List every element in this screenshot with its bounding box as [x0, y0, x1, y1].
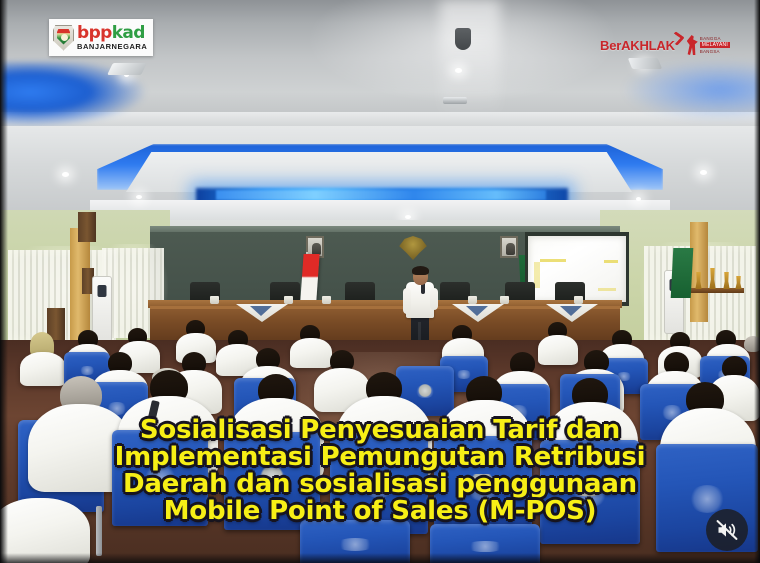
audience-chair: [112, 430, 208, 526]
ceiling-spotlight: [636, 197, 641, 201]
audience-chair: [330, 434, 428, 534]
frame-edge-bottom: [0, 553, 760, 563]
banjarnegara-crest-icon: [53, 25, 74, 51]
tagline-line-2: MELAYANI: [700, 42, 730, 48]
ceiling-blue-glow-right: [600, 62, 760, 122]
running-figure-icon: [687, 35, 698, 55]
frame-edge-left: [0, 0, 8, 563]
chair-emblem: [468, 474, 496, 490]
audience-shirt: [20, 352, 66, 386]
projected-slide-line: [604, 260, 618, 263]
decorative-flag-right: [671, 248, 694, 298]
vice-president-portrait: [500, 236, 518, 258]
blue-led-cove-highlight: [216, 190, 546, 200]
bppkad-wordmark-part2: kad: [112, 23, 145, 43]
ceiling-spotlight: [700, 170, 707, 175]
presenter-arm-left: [403, 288, 411, 314]
drinking-glass: [468, 296, 477, 304]
bangga-melayani-bangsa-text: BANGGA MELAYANI BANGSA: [700, 36, 730, 54]
ceiling-speaker: [455, 28, 471, 50]
tagline-line-1: BANGGA: [700, 36, 730, 41]
projected-slide-line: [598, 288, 616, 291]
presenter-arm-right: [430, 288, 438, 310]
bppkad-wordmark: bppkad: [77, 25, 147, 42]
audience-shirt: [538, 335, 578, 365]
berakhlak-wordmark: BerAKHLAK: [600, 38, 675, 53]
bppkad-logo: bppkad BANJARNEGARA: [49, 19, 153, 56]
ceiling-light-fixture: [628, 58, 662, 69]
drinking-glass: [574, 296, 583, 304]
speaker-muted-icon: [715, 518, 739, 542]
ceiling-spotlight: [405, 215, 411, 219]
video-frame: bppkad BANJARNEGARA BerAKHLAK BANGGA MEL…: [0, 0, 760, 563]
chair-frame: [96, 506, 102, 556]
ceiling-spotlight: [136, 195, 142, 199]
meeting-hall-scene: [0, 0, 760, 563]
ceiling-lower-face: [90, 200, 670, 222]
mute-button[interactable]: [706, 509, 748, 551]
chair-emblem: [574, 480, 602, 496]
berakhlak-logo: BerAKHLAK BANGGA MELAYANI BANGSA: [600, 34, 727, 56]
ceiling-spotlight: [455, 68, 462, 73]
wall-column-dark-left: [78, 212, 96, 242]
bppkad-wordmark-part1: bpp: [77, 23, 112, 43]
ceiling-light-fixture: [107, 63, 147, 75]
tagline-line-3: BANGSA: [700, 49, 730, 54]
audience-shirt: [290, 338, 332, 368]
bppkad-logo-text: bppkad BANJARNEGARA: [77, 25, 147, 51]
drinking-glass: [210, 296, 219, 304]
ceiling-light-fixture: [443, 97, 467, 104]
projected-slide-line: [540, 259, 566, 262]
ceiling-blue-glow-left: [0, 62, 210, 128]
drinking-glass: [284, 296, 293, 304]
ceiling-inner-panel: [126, 152, 632, 192]
ceiling-spotlight: [62, 172, 69, 177]
drinking-glass: [500, 296, 509, 304]
chair-emblem: [258, 468, 286, 484]
chair-emblem: [418, 384, 432, 397]
frame-edge-right: [754, 0, 760, 563]
bangga-melayani-bangsa-mark: BANGGA MELAYANI BANGSA: [687, 34, 727, 56]
indonesian-flag: [300, 254, 319, 300]
presenter-hair: [412, 266, 429, 275]
bppkad-subtitle: BANJARNEGARA: [77, 43, 147, 51]
drinking-glass: [322, 296, 331, 304]
